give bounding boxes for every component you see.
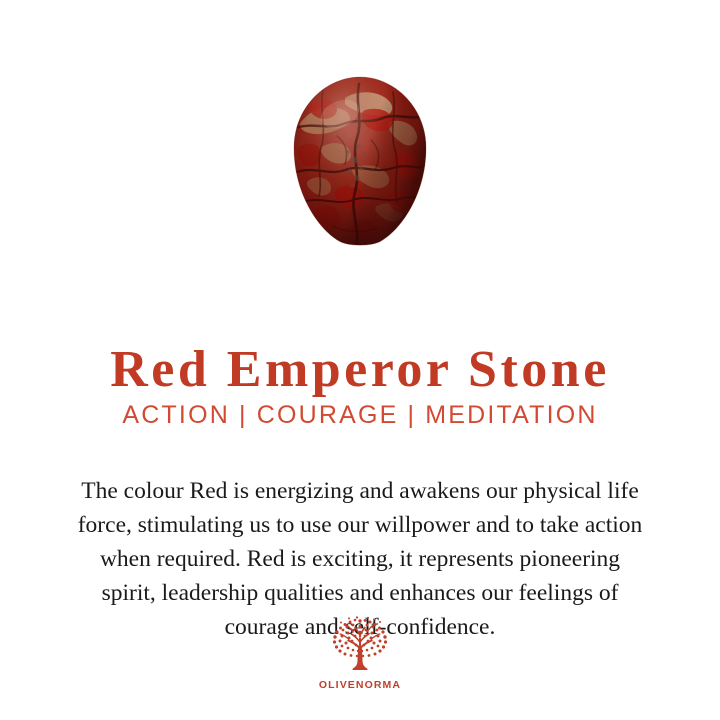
brand-name: OLIVENORMA	[319, 679, 401, 691]
keyword-separator: |	[230, 400, 257, 430]
tree-of-life-icon	[327, 616, 393, 676]
red-emperor-stone-image	[293, 76, 427, 248]
description-line: force, stimulating us to use our willpow…	[15, 508, 705, 542]
keyword-separator: |	[399, 400, 426, 430]
keyword-meditation: MEDITATION	[425, 401, 597, 429]
product-info-card: Red Emperor Stone ACTION|COURAGE|MEDITAT…	[0, 0, 720, 720]
description-line: when required. Red is exciting, it repre…	[15, 542, 705, 576]
description-line: The colour Red is energizing and awakens…	[15, 474, 705, 508]
brand-logo: OLIVENORMA	[0, 616, 720, 691]
keyword-action: ACTION	[122, 401, 230, 429]
product-image-container	[0, 76, 720, 252]
page-title: Red Emperor Stone	[0, 341, 720, 399]
stone-body	[293, 76, 427, 248]
keyword-list: ACTION|COURAGE|MEDITATION	[0, 400, 720, 430]
description-line: spirit, leadership qualities and enhance…	[15, 576, 705, 610]
keyword-courage: COURAGE	[257, 401, 399, 429]
